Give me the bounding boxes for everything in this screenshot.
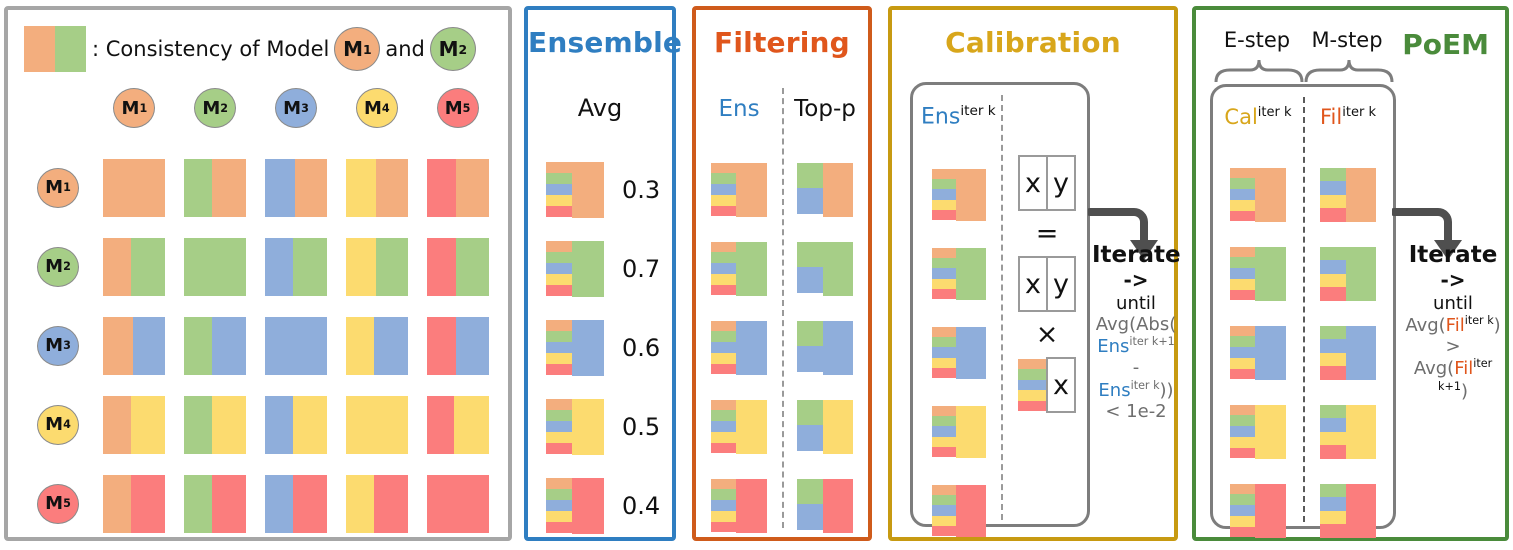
ensemble-rows: 0.30.70.60.50.4 [528,150,672,545]
calibration-glyph-5-strip-5 [932,526,956,536]
matrix-row-chip-1-label: M [45,177,63,198]
poem-cal-cell-1 [1213,168,1303,222]
ensemble-glyph-3-strip-4 [546,353,572,364]
legend-prefix: : Consistency of Model [92,37,329,61]
poem-title: PoEM [1402,28,1489,61]
ensemble-row-5: 0.4 [528,466,672,545]
calibration-row-3 [919,313,999,392]
matrix-cell-left [184,317,212,375]
matrix-cell-5-2 [184,475,246,533]
ensemble-glyph-4-strip-1 [546,399,572,410]
filtering-topp-cell-1 [782,163,868,217]
matrix-cell-2-3 [265,238,327,296]
ensemble-title: Ensemble [528,26,672,59]
poem-fil-glyph-4-strip-1 [1320,405,1346,419]
xy-box-top-y: y [1046,157,1074,209]
filtering-topp-glyph-5-strip-2 [797,504,823,530]
poem-row-2 [1213,234,1393,313]
poem-fil-glyph-3-strip-4 [1320,366,1346,380]
legend: : Consistency of Model M1 and M2 [24,26,476,72]
calibration-glyph-5 [932,485,986,537]
poem-cal-glyph-1-strips [1230,168,1255,222]
matrix-row-chip-5-label: M [45,493,63,514]
poem-cal-glyph-3 [1230,326,1286,380]
poem-fil-glyph-2 [1320,247,1376,301]
xy-box-top: x y [1018,155,1076,211]
filtering-ens-glyph-3 [711,321,767,375]
matrix-col-chip-3-sub: 3 [301,102,309,115]
filtering-topp-glyph-1-strip-1 [797,163,823,189]
poem-fil-glyph-5-solid [1346,484,1376,538]
poem-fil-cell-1 [1303,168,1393,222]
ensemble-glyph-3-strip-3 [546,342,572,353]
filtering-topp-cell-5 [782,479,868,533]
ensemble-glyph-5 [546,478,604,534]
calibration-glyph-1-strip-2 [932,179,956,189]
calibration-row-1 [919,155,999,234]
calibration-glyph-2-solid [956,248,986,300]
poem-cal-glyph-5-solid [1255,484,1286,538]
filtering-topp-glyph-5-solid [823,479,853,533]
calibration-glyph-3-strip-5 [932,368,956,378]
calibration-glyph-4-strip-1 [932,406,956,416]
calibration-iterate-line2: Ensiter k+1 [1092,335,1180,357]
poem-fil-cell-3 [1303,326,1393,380]
calibration-iterate-line3: - [1092,357,1180,378]
matrix-row-header-2: M2 [22,247,94,287]
matrix-cell-3-5 [427,317,489,375]
filtering-topp-glyph-5 [797,479,853,533]
calibration-glyph-rows [919,155,999,550]
poem-fil-glyph-4-strips [1320,405,1346,459]
poem-cal-glyph-1 [1230,168,1286,222]
filtering-title: Filtering [696,26,868,59]
xy-box-mid: x y [1018,256,1076,312]
calibration-iterate-line1: Avg(Abs( [1092,314,1180,335]
matrix-row-chip-2-label: M [45,256,63,277]
filtering-ens-cell-3 [696,321,782,375]
calibration-iterate-line4-sup: iter k [1131,379,1160,392]
filtering-ens-glyph-2-strip-5 [711,285,736,296]
poem-iterate-line3-pre: Avg( [1414,358,1454,379]
matrix-row-chip-2: M2 [37,247,79,287]
poem-fil-glyph-3-strip-1 [1320,326,1346,340]
matrix-cell-right [374,475,408,533]
calibration-iterate-arrow: -> [1092,269,1180,293]
filtering-ens-glyph-1-solid [736,163,767,217]
filtering-row-3 [696,308,868,387]
poem-cal-glyph-2-strip-3 [1230,268,1255,279]
filtering-topp-glyph-4-strip-2 [797,425,823,451]
matrix-cell-5-4 [346,475,408,533]
matrix-cell-right [131,396,165,454]
calibration-iterate-line2-label: Ens [1097,336,1129,357]
ensemble-row-1: 0.3 [528,150,672,229]
matrix-row-chip-3: M3 [37,326,79,366]
calibration-glyph-3-strip-2 [932,337,956,347]
poem-col-cal-sup: iter k [1258,105,1292,120]
ensemble-panel: Ensemble Avg 0.30.70.60.50.4 [524,6,676,541]
poem-cal-glyph-1-strip-5 [1230,211,1255,222]
matrix-cell-1-1 [103,159,165,217]
filtering-ens-glyph-1-strip-2 [711,173,736,184]
ensemble-glyph-2-strip-3 [546,263,572,274]
filtering-topp-glyph-3-strip-1 [797,321,823,347]
matrix-col-header-5: M5 [417,88,498,128]
poem-cal-glyph-4-strip-2 [1230,415,1255,426]
calibration-iterate-line2-sup: iter k+1 [1129,335,1174,348]
poem-cal-glyph-1-solid [1255,168,1286,222]
matrix-cell-left [184,159,212,217]
poem-fil-glyph-1-strip-1 [1320,168,1346,182]
filtering-panel: Filtering Ens Top-p [692,6,872,541]
matrix-cell-right [376,238,408,296]
matrix-cell-right [456,159,488,217]
matrix-cell-left [346,159,376,217]
calibration-glyph-2 [932,248,986,300]
poem-cal-cell-3 [1213,326,1303,380]
poem-col-fil-sup: iter k [1342,105,1376,120]
ensemble-avg-value-1: 0.3 [622,176,660,204]
matrix-cell-wrap [175,238,256,296]
ensemble-glyph-4-strip-4 [546,432,572,443]
matrix-row: M5 [22,464,502,543]
filtering-topp-glyph-2-solid [823,242,853,296]
matrix-cell-right [212,317,246,375]
calibration-ens-sup: iter k [960,103,995,119]
filtering-topp-cell-4 [782,400,868,454]
matrix-cell-left [346,475,374,533]
calibration-glyph-5-solid [956,485,986,537]
poem-inner-box: Caliter k Filiter k [1210,84,1396,529]
matrix-cell-wrap [94,396,175,454]
poem-cal-glyph-4-strips [1230,405,1255,459]
poem-cal-glyph-2-strips [1230,247,1255,301]
filtering-topp-glyph-3-strips [797,321,823,375]
matrix-col-chip-4: M4 [356,88,398,128]
poem-col-cal: Caliter k [1213,105,1303,129]
filtering-ens-glyph-1-strip-5 [711,206,736,217]
ensemble-glyph-1-strip-3 [546,184,572,195]
filtering-ens-glyph-2-strip-2 [711,252,736,263]
matrix-cell-left [346,238,376,296]
matrix-cell-left [103,238,131,296]
calibration-mix-strips-strip-4 [1018,390,1046,400]
matrix-cell-left [265,238,293,296]
ensemble-glyph-2-solid [572,241,604,297]
matrix-cell-wrap [256,238,337,296]
legend-chip-m2-label: M [439,37,459,61]
poem-fil-glyph-3-strip-3 [1320,353,1346,367]
calibration-glyph-5-strip-4 [932,516,956,526]
xy-box-top-x: x [1020,157,1046,209]
calibration-box-label: Ensiter k [921,103,996,129]
matrix-cell-wrap [417,159,498,217]
matrix-cell-right [212,396,246,454]
matrix-cell-right [427,475,489,533]
matrix-col-header-2: M2 [175,88,256,128]
poem-cal-glyph-4-strip-5 [1230,448,1255,459]
ensemble-glyph-2-strip-5 [546,285,572,296]
matrix-cell-wrap [417,238,498,296]
matrix-cell-2-1 [103,238,165,296]
filtering-ens-glyph-5-solid [736,479,767,533]
ensemble-glyph-1-solid [572,162,604,218]
poem-cal-glyph-5-strip-3 [1230,505,1255,516]
ensemble-row-4: 0.5 [528,387,672,466]
ensemble-glyph-2-strip-4 [546,274,572,285]
poem-cal-glyph-3-strip-3 [1230,347,1255,358]
ensemble-glyph-5-strip-1 [546,478,572,489]
matrix-col-chip-5-sub: 5 [463,102,471,115]
matrix-col-header-3: M3 [256,88,337,128]
matrix-cell-1-5 [427,159,489,217]
poem-row-3 [1213,313,1393,392]
matrix-cell-wrap [417,475,498,533]
filtering-topp-glyph-1-solid [823,163,853,217]
poem-iterate-line1-pre: Avg( [1405,315,1445,336]
poem-fil-glyph-3-solid [1346,326,1376,380]
matrix-cell-3-4 [346,317,408,375]
matrix-row-chip-5-sub: 5 [63,497,71,510]
poem-cal-glyph-2-strip-1 [1230,247,1255,258]
matrix-cell-3-1 [103,317,165,375]
poem-cal-glyph-4-strip-1 [1230,405,1255,416]
matrix-cell-right [133,317,165,375]
calibration-glyph-1-solid [956,169,986,221]
poem-fil-glyph-3 [1320,326,1376,380]
calibration-glyph-2-strip-1 [932,248,956,258]
legend-chip-m1-label: M [343,37,363,61]
matrix-row: M2 [22,227,502,306]
calibration-mix-strips [1018,359,1046,411]
poem-fil-glyph-3-strips [1320,326,1346,380]
poem-col-fil: Filiter k [1303,105,1393,129]
calibration-glyph-5-strip-3 [932,505,956,515]
matrix-cell-left [184,396,212,454]
calibration-iterate-line4: Ensiter k)) [1092,379,1180,401]
poem-col-fil-label: Fil [1320,105,1342,129]
times-symbol: × [1036,321,1059,348]
poem-cal-cell-4 [1213,405,1303,459]
calibration-iterate-line4-tail: )) [1160,380,1174,401]
matrix-cell-wrap [256,317,337,375]
ensemble-glyph-4-strip-3 [546,421,572,432]
matrix-cell-wrap [417,396,498,454]
matrix-cell-right [131,238,165,296]
poem-fil-glyph-2-solid [1346,247,1376,301]
matrix-cell-wrap [175,475,256,533]
filtering-topp-glyph-2 [797,242,853,296]
matrix-col-chip-4-label: M [364,98,382,119]
matrix-cell-1-3 [265,159,327,217]
filtering-ens-glyph-5-strip-1 [711,479,736,490]
poem-iterate-line3-post: ) [1461,381,1468,402]
filtering-topp-glyph-5-strips [797,479,823,533]
matrix-cell-right [212,475,246,533]
ensemble-avg-value-4: 0.5 [622,413,660,441]
poem-fil-glyph-3-strip-2 [1320,339,1346,353]
calibration-glyph-1-strip-3 [932,189,956,199]
calibration-operations: x y = x y × x [1005,155,1089,413]
matrix-cell-3-2 [184,317,246,375]
ensemble-glyph-1 [546,162,604,218]
poem-cal-glyph-5-strip-1 [1230,484,1255,495]
filtering-ens-glyph-3-strip-1 [711,321,736,332]
filtering-ens-glyph-1-strip-4 [711,195,736,206]
calibration-glyph-1 [932,169,986,221]
calibration-glyph-4 [932,406,986,458]
filtering-ens-glyph-5-strip-4 [711,511,736,522]
filtering-ens-glyph-4-strips [711,400,736,454]
calibration-glyph-3-strip-3 [932,347,956,357]
filtering-ens-glyph-1-strip-1 [711,163,736,174]
filtering-ens-glyph-5-strips [711,479,736,533]
x-box-tail: x [1046,357,1076,413]
filtering-row-1 [696,150,868,229]
poem-fil-glyph-4-strip-4 [1320,445,1346,459]
matrix-cell-left [427,317,457,375]
filtering-row-5 [696,466,868,545]
ensemble-glyph-1-strips [546,162,572,218]
ensemble-glyph-2-strips [546,241,572,297]
matrix-cell-left [427,396,455,454]
filtering-ens-glyph-4-strip-2 [711,410,736,421]
ensemble-glyph-3-strip-5 [546,364,572,375]
filtering-ens-glyph-3-strip-5 [711,364,736,375]
matrix-cell-wrap [94,475,175,533]
poem-fil-glyph-1-strip-2 [1320,181,1346,195]
poem-fil-cell-5 [1303,484,1393,538]
ensemble-glyph-5-strip-2 [546,489,572,500]
ensemble-glyph-3-solid [572,320,604,376]
matrix-row-header-1: M1 [22,168,94,208]
filtering-topp-glyph-4-strips [797,400,823,454]
ensemble-glyph-3 [546,320,604,376]
legend-conjunction: and [385,37,425,61]
matrix-cell-wrap [256,159,337,217]
ensemble-glyph-5-strip-3 [546,500,572,511]
poem-cal-glyph-3-strip-2 [1230,336,1255,347]
poem-fil-glyph-2-strips [1320,247,1346,301]
filtering-topp-cell-2 [782,242,868,296]
poem-cal-glyph-5 [1230,484,1286,538]
filtering-topp-cell-3 [782,321,868,375]
matrix-cell-wrap [175,159,256,217]
matrix-col-chip-4-sub: 4 [382,102,390,115]
poem-fil-glyph-2-strip-1 [1320,247,1346,261]
ensemble-glyph-2 [546,241,604,297]
matrix-grid: M1M2M3M4M5 [22,148,502,543]
matrix-cell-right [456,238,488,296]
filtering-ens-glyph-3-strip-4 [711,353,736,364]
poem-cal-glyph-4-solid [1255,405,1286,459]
filtering-col-topp-label: Top-p [782,96,868,122]
matrix-column-headers: M1M2M3M4M5 [94,88,498,128]
filtering-topp-glyph-1-strips [797,163,823,217]
matrix-cell-2-4 [346,238,408,296]
ensemble-glyph-3-strips [546,320,572,376]
poem-iterate-line1: Avg(Filiter k) [1398,314,1508,336]
poem-fil-cell-2 [1303,247,1393,301]
poem-iterate-line1-post: ) [1494,315,1501,336]
ensemble-glyph-5-solid [572,478,604,534]
matrix-cell-right [184,238,246,296]
matrix-cell-wrap [94,317,175,375]
matrix-cell-wrap [336,396,417,454]
matrix-row-chip-2-sub: 2 [63,260,71,273]
ensemble-glyph-4-strip-2 [546,410,572,421]
matrix-row-chip-1-sub: 1 [63,181,71,194]
calibration-glyph-2-strips [932,248,956,300]
calibration-row-5 [919,471,999,550]
poem-fil-glyph-4-strip-3 [1320,432,1346,446]
poem-fil-glyph-1-solid [1346,168,1376,222]
poem-row-1 [1213,155,1393,234]
poem-column-headers: Caliter k Filiter k [1213,105,1393,129]
poem-iterate-line3-label: Fil [1454,358,1473,379]
poem-iterate-until: until [1398,293,1508,314]
calibration-glyph-1-strip-4 [932,200,956,210]
calibration-glyph-5-strip-1 [932,485,956,495]
matrix-cell-4-2 [184,396,246,454]
calibration-glyph-4-solid [956,406,986,458]
poem-fil-glyph-2-strip-4 [1320,287,1346,301]
poem-cal-glyph-5-strip-5 [1230,527,1255,538]
poem-cal-glyph-1-strip-4 [1230,200,1255,211]
filtering-ens-glyph-3-strip-2 [711,331,736,342]
poem-fil-glyph-2-strip-2 [1320,260,1346,274]
matrix-cell-wrap [417,317,498,375]
poem-iterate-line3: Avg(Filiter k+1) [1398,357,1508,401]
legend-chip-m2: M2 [430,27,476,71]
filtering-ens-glyph-5 [711,479,767,533]
calibration-glyph-5-strips [932,485,956,537]
poem-iterate-line2: > [1398,336,1508,357]
matrix-cell-5-3 [265,475,327,533]
matrix-cell-wrap [256,396,337,454]
poem-fil-glyph-5-strip-3 [1320,511,1346,525]
calibration-iterate-text: Iterate -> until Avg(Abs( Ensiter k+1 - … [1092,242,1180,422]
matrix-cell-left [346,317,374,375]
matrix-row-chip-5: M5 [37,484,79,524]
calibration-glyph-3-solid [956,327,986,379]
filtering-topp-glyph-4 [797,400,853,454]
poem-cal-cell-2 [1213,247,1303,301]
poem-fil-glyph-5-strips [1320,484,1346,538]
matrix-row-header-3: M3 [22,326,94,366]
filtering-ens-glyph-1 [711,163,767,217]
calibration-glyph-4-strip-5 [932,447,956,457]
matrix-cell-5-5 [427,475,489,533]
calibration-mix-strips-strip-5 [1018,401,1046,411]
legend-chip-m2-sub: 2 [459,42,468,57]
calibration-glyph-4-strips [932,406,956,458]
poem-iterate-line1-label: Fil [1446,315,1465,336]
calibration-mix-glyph [1018,359,1046,411]
poem-cal-glyph-4-strip-3 [1230,426,1255,437]
matrix-cell-wrap [94,238,175,296]
matrix-col-chip-1: M1 [113,88,155,128]
matrix-col-chip-3: M3 [275,88,317,128]
poem-cal-glyph-3-solid [1255,326,1286,380]
filtering-ens-cell-2 [696,242,782,296]
matrix-cell-wrap [336,475,417,533]
poem-cal-glyph-2-solid [1255,247,1286,301]
poem-step-labels: E-step M-step [1212,28,1392,52]
poem-fil-glyph-5-strip-2 [1320,497,1346,511]
calibration-glyph-2-strip-2 [932,258,956,268]
